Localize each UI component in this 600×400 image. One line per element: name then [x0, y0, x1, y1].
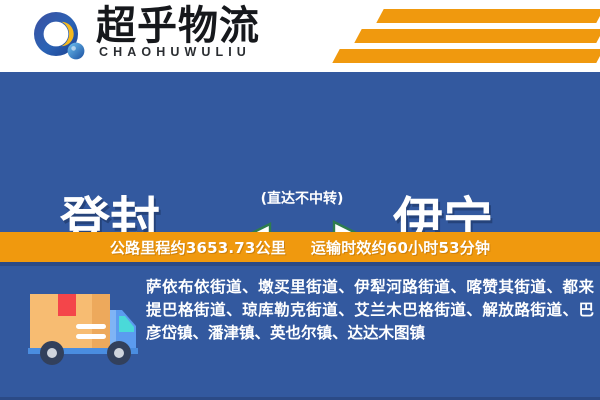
header-stripes-decoration [340, 8, 600, 70]
duration-value: 运输时效约60小时53分钟 [311, 239, 490, 257]
delivery-truck-icon [22, 282, 142, 370]
route-info-text: 公路里程约3653.73公里 运输时效约60小时53分钟 [110, 237, 490, 258]
service-areas-list: 萨依布依街道、墩买里街道、伊犁河路街道、喀赞其街道、都来提巴格街道、琼库勒克街道… [146, 276, 594, 345]
brand-name-cn: 超乎物流 [96, 4, 260, 48]
brand-name-en: CHAOHUWULIU [99, 45, 251, 59]
logistics-route-banner: 超乎物流 CHAOHUWULIU 登封 (直达不中转) 【往返运输】 伊宁 公路… [0, 0, 600, 400]
distance-value: 公路里程约3653.73公里 [110, 239, 286, 257]
route-info-bar: 公路里程约3653.73公里 运输时效约60小时53分钟 [0, 232, 600, 262]
circle-crescent-logo-icon [33, 11, 89, 63]
stripe-3 [332, 49, 600, 63]
stripe-1 [376, 9, 600, 23]
banner-header: 超乎物流 CHAOHUWULIU [0, 0, 600, 72]
route-panel: 登封 (直达不中转) 【往返运输】 伊宁 [0, 72, 600, 232]
route-note-direct: (直达不中转) [236, 188, 368, 208]
stripe-2 [354, 29, 600, 43]
